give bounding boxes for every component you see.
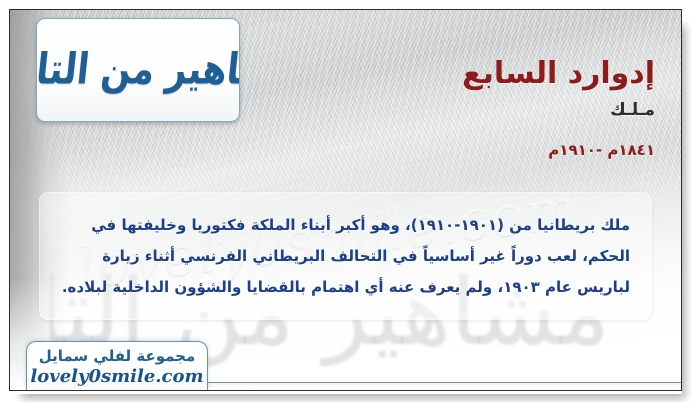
subject-role: مـلـك [462,100,655,120]
bottom-rule [208,382,681,383]
bottom-strip [208,383,681,390]
subject-dates: ١٨٤١م -١٩١٠م [462,141,655,159]
footer-url[interactable]: lovely0smile.com [30,366,203,387]
footer-brand-tab[interactable]: مجموعة لفلي سمايل lovely0smile.com [26,341,208,391]
biography-panel: ملك بريطانيا من (١٩٠١-١٩١٠)، وهو أكبر أب… [39,192,652,320]
page-canvas: مشاهير من التاريخ lovely0smile.com مشاهي… [0,0,692,402]
footer-group-name: مجموعة لفلي سمايل [39,347,196,365]
card-frame: مشاهير من التاريخ lovely0smile.com مشاهي… [9,9,682,391]
biography-text: ملك بريطانيا من (١٩٠١-١٩١٠)، وهو أكبر أب… [61,210,630,302]
brand-logo-text: مشاهير من التاريخ [36,46,240,95]
page-title: إدوارد السابع [462,58,655,90]
heading-block: إدوارد السابع مـلـك ١٨٤١م -١٩١٠م [462,58,655,159]
brand-logo-plaque[interactable]: مشاهير من التاريخ [36,18,240,122]
